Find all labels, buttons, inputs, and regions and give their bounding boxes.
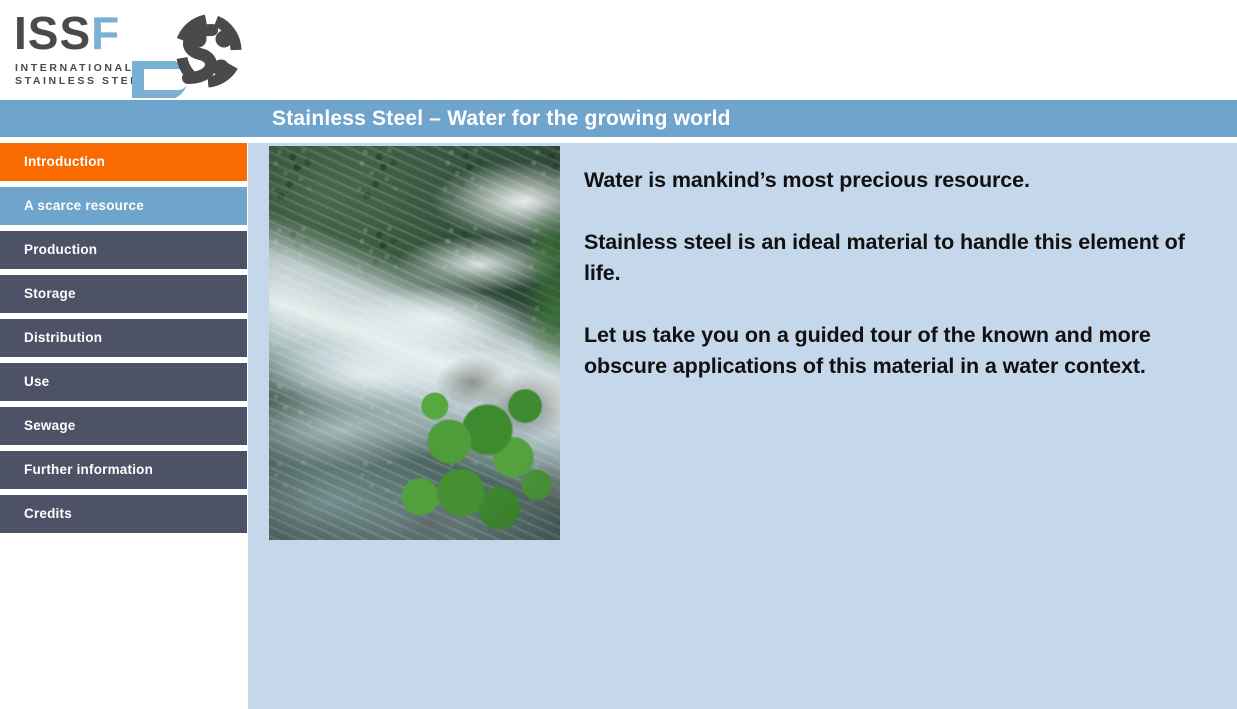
intro-paragraph-2: Stainless steel is an ideal material to …	[584, 227, 1196, 289]
sidebar-item-credits[interactable]: Credits	[0, 495, 247, 533]
page-header: ISSF INTERNATIONAL STAINLESS STEEL	[0, 0, 1237, 100]
intro-copy: Water is mankind’s most precious resourc…	[584, 165, 1196, 413]
issf-circle-mark-icon	[120, 6, 268, 101]
intro-paragraph-1: Water is mankind’s most precious resourc…	[584, 165, 1196, 196]
issf-logo[interactable]: ISSF INTERNATIONAL STAINLESS STEEL	[10, 6, 260, 98]
sidebar-item-sewage[interactable]: Sewage	[0, 407, 247, 445]
photo-layer-vignette	[269, 146, 560, 540]
sidebar-item-production[interactable]: Production	[0, 231, 247, 269]
page-title: Stainless Steel – Water for the growing …	[272, 100, 731, 137]
sidebar-item-further-information[interactable]: Further information	[0, 451, 247, 489]
sidebar-nav: Introduction A scarce resource Productio…	[0, 143, 247, 539]
logo-wordmark-iss: ISS	[14, 7, 91, 59]
sidebar-item-introduction[interactable]: Introduction	[0, 143, 247, 181]
sidebar-item-a-scarce-resource[interactable]: A scarce resource	[0, 187, 247, 225]
intro-paragraph-3: Let us take you on a guided tour of the …	[584, 320, 1196, 382]
sidebar-item-storage[interactable]: Storage	[0, 275, 247, 313]
logo-wordmark-f: F	[91, 7, 120, 59]
logo-wordmark: ISSF	[14, 8, 120, 58]
stream-photo	[269, 146, 560, 540]
sidebar-item-use[interactable]: Use	[0, 363, 247, 401]
page-title-bar: Stainless Steel – Water for the growing …	[0, 100, 1237, 137]
content-panel: Water is mankind’s most precious resourc…	[248, 143, 1237, 709]
sidebar-item-distribution[interactable]: Distribution	[0, 319, 247, 357]
